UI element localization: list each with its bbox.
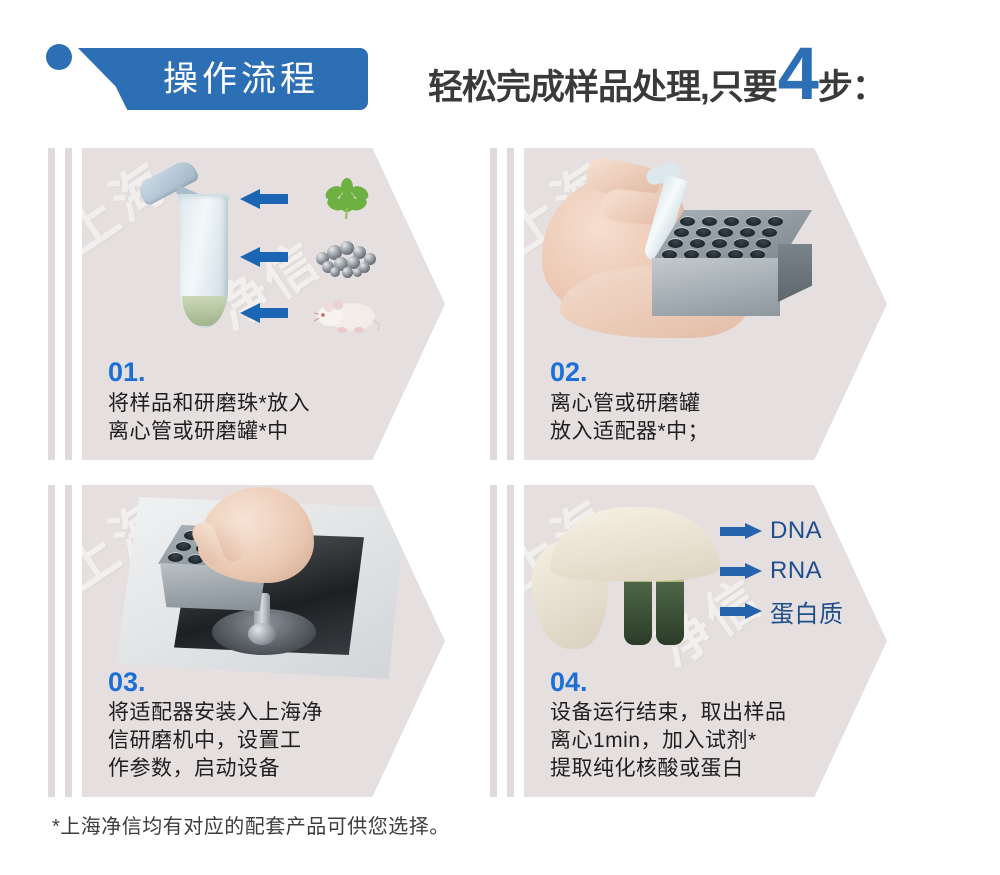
step-02-text: 02. 离心管或研磨罐 放入适配器*中； [550,358,850,446]
step-card-body: 上海 净信 [82,485,445,797]
step-card-03: 上海 净信 [48,485,445,797]
left-arrow-icon [240,247,288,266]
output-row-rna: RNA [720,553,880,589]
machine-knob [248,623,276,645]
output-label: DNA [770,517,822,545]
tube-pellet [656,582,684,645]
step-line: 离心1min，加入试剂* [550,727,850,755]
sample-input-row-1 [240,182,440,216]
adapter-block-icon [652,210,812,320]
accent-bar-inner [507,148,514,460]
accent-bar-outer [48,485,55,797]
step-card-02: 上海 净信 [490,148,887,460]
step-01-illustration [82,148,445,348]
step-03-text: 03. 将适配器安装入上海净 信研磨机中，设置工 作参数，启动设备 [108,668,408,783]
step-line: 将样品和研磨珠*放入 [108,390,408,418]
output-row-dna: DNA [720,513,880,549]
left-arrow-icon [240,303,288,322]
headline-text-after: 步： [818,59,886,110]
step-card-body: 上海 净信 [524,485,887,797]
leaf-icon [312,178,382,220]
step-line: 作参数，启动设备 [108,755,408,783]
banner-dot-icon [46,44,72,70]
steps-grid: 上海 净信 [0,140,1000,790]
tube-pellet [624,582,652,645]
output-row-protein: 蛋白质 [720,593,880,629]
banner-title: 操作流程 [163,62,319,97]
step-card-01: 上海 净信 [48,148,445,460]
step-number: 04. [550,668,850,698]
step-04-text: 04. 设备运行结束，取出样品 离心1min，加入试剂* 提取纯化核酸或蛋白 [550,668,850,783]
accent-bar-outer [490,485,497,797]
accent-bar-outer [48,148,55,460]
centrifuge-tube-icon [132,166,242,341]
output-label: 蛋白质 [770,594,844,629]
tube-liquid [182,296,226,326]
banner: 操作流程 [78,48,368,110]
step-01-text: 01. 将样品和研磨珠*放入 离心管或研磨罐*中 [108,358,408,446]
step-line: 设备运行结束，取出样品 [550,699,850,727]
step-04-illustration: DNA RNA 蛋白质 [524,485,887,685]
sample-input-row-2 [240,240,440,274]
beads-cluster [312,236,382,278]
step-02-illustration [524,148,887,348]
step-card-body: 上海 净信 [82,148,445,460]
accent-bar-inner [507,485,514,797]
step-line: 离心管或研磨罐 [550,390,850,418]
adapter-block-side [778,244,812,302]
step-03-illustration [82,485,445,685]
right-arrow-icon [720,603,762,619]
left-arrow-icon [240,189,288,208]
step-number: 01. [108,358,408,388]
output-label: RNA [770,557,822,585]
step-line: 放入适配器*中； [550,418,850,446]
step-number: 03. [108,668,408,698]
infographic-page: 操作流程 轻松完成样品处理,只要 4 步： 上海 净信 [0,0,1000,875]
accent-bar-outer [490,148,497,460]
headline-step-count: 4 [777,44,818,103]
grinding-beads-icon [312,236,382,278]
output-list: DNA RNA 蛋白质 [720,513,880,633]
headline-text-before: 轻松完成样品处理,只要 [428,59,777,110]
step-line: 离心管或研磨罐*中 [108,418,408,446]
accent-bar-inner [65,485,72,797]
step-card-04: 上海 净信 [490,485,887,797]
headline: 轻松完成样品处理,只要 4 步： [428,44,886,114]
step-line: 提取纯化核酸或蛋白 [550,755,850,783]
step-number: 02. [550,358,850,388]
gloved-hand-icon [550,507,720,581]
right-arrow-icon [720,523,762,539]
adapter-block-front [652,258,780,316]
step-line: 将适配器安装入上海净 [108,699,408,727]
right-arrow-icon [720,563,762,579]
step-line: 信研磨机中，设置工 [108,727,408,755]
mouse-icon [312,292,382,334]
footnote: *上海净信均有对应的配套产品可供您选择。 [52,810,450,839]
accent-bar-inner [65,148,72,460]
sample-input-row-3 [240,296,440,330]
header: 操作流程 轻松完成样品处理,只要 4 步： [0,0,1000,140]
step-card-body: 上海 净信 [524,148,887,460]
